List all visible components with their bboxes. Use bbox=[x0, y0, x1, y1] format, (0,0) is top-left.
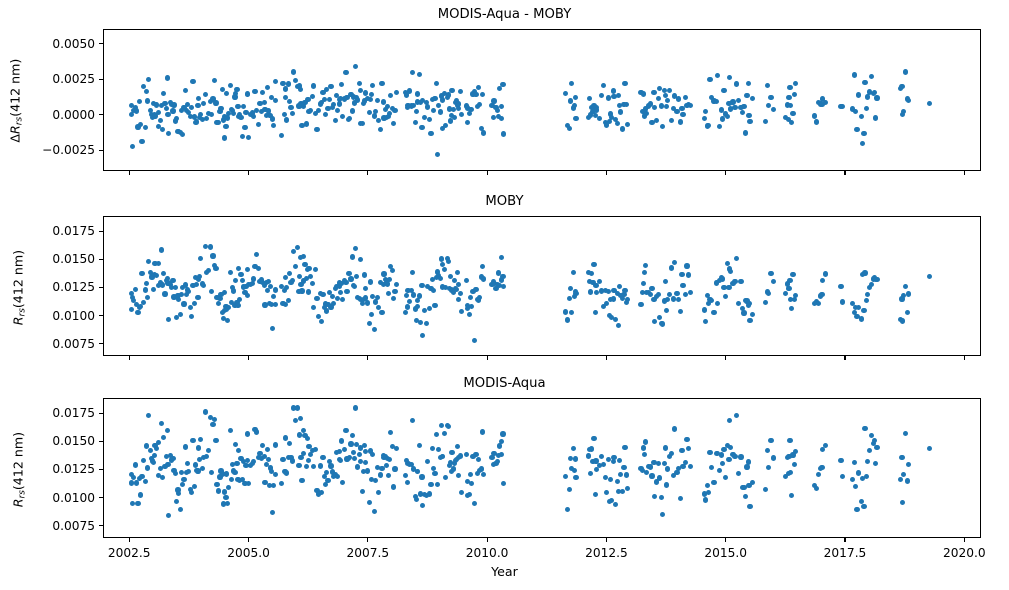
scatter-point bbox=[360, 121, 365, 126]
scatter-point bbox=[192, 301, 197, 306]
scatter-point bbox=[311, 464, 316, 469]
scatter-point bbox=[394, 446, 399, 451]
scatter-point bbox=[771, 107, 776, 112]
scatter-point bbox=[424, 321, 429, 326]
scatter-point bbox=[352, 284, 357, 289]
scatter-point bbox=[208, 244, 213, 249]
scatter-point bbox=[789, 493, 794, 498]
x-tick-label: 2017.5 bbox=[824, 546, 867, 560]
scatter-point bbox=[354, 274, 359, 279]
scatter-point bbox=[213, 438, 218, 443]
scatter-point bbox=[852, 460, 857, 465]
scatter-point bbox=[611, 455, 616, 460]
scatter-point bbox=[324, 470, 329, 475]
scatter-point bbox=[674, 291, 679, 296]
scatter-point bbox=[464, 278, 469, 283]
scatter-point bbox=[571, 446, 576, 451]
scatter-point bbox=[459, 309, 464, 314]
scatter-point bbox=[477, 295, 482, 300]
scatter-point bbox=[174, 116, 179, 121]
scatter-point bbox=[497, 443, 502, 448]
scatter-point bbox=[903, 431, 908, 436]
scatter-point bbox=[133, 462, 138, 467]
x-tick-mark bbox=[248, 171, 249, 175]
scatter-point bbox=[734, 413, 739, 418]
scatter-point bbox=[394, 282, 399, 287]
scatter-point bbox=[245, 91, 250, 96]
scatter-point bbox=[814, 486, 819, 491]
scatter-point bbox=[287, 99, 292, 104]
scatter-point bbox=[407, 299, 412, 304]
scatter-point bbox=[420, 503, 425, 508]
scatter-point bbox=[473, 92, 478, 97]
y-tick-label: 0.0150 bbox=[52, 252, 95, 266]
scatter-point bbox=[862, 426, 867, 431]
x-tick-mark bbox=[964, 171, 965, 175]
x-tick-label: 2010.0 bbox=[466, 546, 509, 560]
scatter-point bbox=[144, 281, 149, 286]
x-tick-mark bbox=[129, 538, 130, 542]
scatter-point bbox=[241, 104, 246, 109]
scatter-point bbox=[766, 465, 771, 470]
scatter-point bbox=[500, 431, 505, 436]
scatter-point bbox=[597, 116, 602, 121]
scatter-point bbox=[204, 116, 209, 121]
scatter-point bbox=[472, 501, 477, 506]
scatter-point bbox=[369, 92, 374, 97]
y-tick-mark bbox=[99, 79, 103, 80]
scatter-point bbox=[319, 490, 324, 495]
scatter-point bbox=[159, 247, 164, 252]
scatter-point bbox=[617, 458, 622, 463]
scatter-point bbox=[425, 459, 430, 464]
scatter-point bbox=[372, 509, 377, 514]
scatter-point bbox=[901, 109, 906, 114]
panel-moby: MOBY Rrs(412 nm) 0.00750.01000.01250.015… bbox=[0, 187, 1009, 367]
scatter-point bbox=[130, 501, 135, 506]
scatter-point bbox=[271, 483, 276, 488]
scatter-point bbox=[141, 458, 146, 463]
scatter-point bbox=[766, 291, 771, 296]
scatter-point bbox=[899, 84, 904, 89]
scatter-point bbox=[683, 460, 688, 465]
scatter-point bbox=[651, 90, 656, 95]
scatter-point bbox=[641, 445, 646, 450]
scatter-point bbox=[210, 253, 215, 258]
scatter-point bbox=[664, 104, 669, 109]
scatter-point bbox=[246, 135, 251, 140]
scatter-point bbox=[223, 495, 228, 500]
scatter-point bbox=[711, 480, 716, 485]
scatter-point bbox=[166, 317, 171, 322]
scatter-point bbox=[859, 114, 864, 119]
scatter-point bbox=[342, 447, 347, 452]
scatter-point bbox=[340, 480, 345, 485]
y-tick-label: −0.0025 bbox=[42, 143, 95, 157]
scatter-point bbox=[218, 106, 223, 111]
scatter-point bbox=[391, 296, 396, 301]
scatter-point bbox=[741, 310, 746, 315]
scatter-point bbox=[165, 75, 170, 80]
scatter-point bbox=[814, 119, 819, 124]
scatter-point bbox=[856, 92, 861, 97]
scatter-point bbox=[443, 123, 448, 128]
scatter-point bbox=[185, 461, 190, 466]
scatter-point bbox=[189, 490, 194, 495]
scatter-point bbox=[251, 114, 256, 119]
scatter-point bbox=[373, 109, 378, 114]
y-tick-mark bbox=[99, 497, 103, 498]
scatter-point bbox=[325, 478, 330, 483]
scatter-point bbox=[195, 295, 200, 300]
scatter-point bbox=[743, 494, 748, 499]
scatter-point bbox=[606, 95, 611, 100]
scatter-point bbox=[145, 98, 150, 103]
scatter-point bbox=[299, 288, 304, 293]
scatter-point bbox=[190, 79, 195, 84]
scatter-point bbox=[338, 458, 343, 463]
scatter-point bbox=[273, 98, 278, 103]
scatter-point bbox=[198, 437, 203, 442]
scatter-point bbox=[443, 475, 448, 480]
scatter-point bbox=[348, 441, 353, 446]
scatter-point bbox=[643, 439, 648, 444]
scatter-point bbox=[415, 298, 420, 303]
scatter-point bbox=[195, 103, 200, 108]
scatter-point bbox=[439, 256, 444, 261]
scatter-point bbox=[363, 286, 368, 291]
scatter-point bbox=[210, 422, 215, 427]
scatter-point bbox=[387, 457, 392, 462]
scatter-point bbox=[613, 502, 618, 507]
scatter-point bbox=[161, 435, 166, 440]
y-tick-mark bbox=[99, 441, 103, 442]
scatter-point bbox=[481, 276, 486, 281]
scatter-point bbox=[652, 105, 657, 110]
scatter-point bbox=[688, 103, 693, 108]
scatter-point bbox=[273, 287, 278, 292]
scatter-point bbox=[499, 116, 504, 121]
scatter-point bbox=[375, 98, 380, 103]
scatter-point bbox=[174, 499, 179, 504]
scatter-point bbox=[143, 125, 148, 130]
scatter-point bbox=[771, 455, 776, 460]
scatter-point bbox=[166, 513, 171, 518]
scatter-point bbox=[176, 491, 181, 496]
y-tick-mark bbox=[99, 231, 103, 232]
scatter-point bbox=[311, 305, 316, 310]
scatter-point bbox=[747, 318, 752, 323]
scatter-point bbox=[446, 92, 451, 97]
scatter-point bbox=[435, 152, 440, 157]
scatter-point bbox=[379, 310, 384, 315]
y-tick-mark bbox=[99, 315, 103, 316]
scatter-point bbox=[265, 447, 270, 452]
x-tick-mark bbox=[844, 538, 845, 542]
scatter-point bbox=[480, 429, 485, 434]
scatter-point bbox=[350, 433, 355, 438]
x-tick-label: 2002.5 bbox=[108, 546, 151, 560]
scatter-point bbox=[310, 281, 315, 286]
scatter-point bbox=[467, 492, 472, 497]
scatter-point bbox=[707, 450, 712, 455]
scatter-point bbox=[660, 124, 665, 129]
scatter-point bbox=[331, 301, 336, 306]
scatter-point bbox=[201, 101, 206, 106]
scatter-point bbox=[765, 448, 770, 453]
scatter-point bbox=[129, 307, 134, 312]
scatter-point bbox=[298, 416, 303, 421]
scatter-point bbox=[145, 465, 150, 470]
scatter-point bbox=[365, 468, 370, 473]
y-tick-mark bbox=[99, 259, 103, 260]
scatter-point bbox=[159, 421, 164, 426]
scatter-point bbox=[256, 266, 261, 271]
scatter-point bbox=[225, 115, 230, 120]
scatter-point bbox=[480, 264, 485, 269]
scatter-point bbox=[203, 409, 208, 414]
scatter-point bbox=[295, 245, 300, 250]
scatter-point bbox=[750, 480, 755, 485]
scatter-point bbox=[203, 92, 208, 97]
scatter-point bbox=[370, 452, 375, 457]
scatter-point bbox=[338, 290, 343, 295]
scatter-point bbox=[763, 300, 768, 305]
scatter-point bbox=[449, 88, 454, 93]
scatter-point bbox=[665, 98, 670, 103]
scatter-point bbox=[151, 287, 156, 292]
scatter-point bbox=[313, 267, 318, 272]
scatter-point bbox=[156, 440, 161, 445]
scatter-point bbox=[254, 252, 259, 257]
scatter-point bbox=[620, 126, 625, 131]
scatter-point bbox=[451, 466, 456, 471]
scatter-point bbox=[143, 287, 148, 292]
scatter-point bbox=[659, 495, 664, 500]
plot-area-moby bbox=[103, 216, 981, 356]
scatter-point bbox=[642, 270, 647, 275]
scatter-point bbox=[223, 124, 228, 129]
scatter-point bbox=[672, 260, 677, 265]
scatter-point bbox=[643, 263, 648, 268]
scatter-point bbox=[768, 95, 773, 100]
scatter-point bbox=[306, 289, 311, 294]
scatter-point bbox=[679, 272, 684, 277]
scatter-point bbox=[838, 458, 843, 463]
scatter-point bbox=[587, 96, 592, 101]
scatter-point bbox=[874, 95, 879, 100]
scatter-point bbox=[240, 134, 245, 139]
scatter-point bbox=[415, 469, 420, 474]
scatter-point bbox=[663, 445, 668, 450]
scatter-point bbox=[905, 478, 910, 483]
scatter-point bbox=[373, 478, 378, 483]
scatter-point bbox=[469, 481, 474, 486]
scatter-point bbox=[709, 465, 714, 470]
scatter-point bbox=[320, 292, 325, 297]
scatter-point bbox=[273, 302, 278, 307]
scatter-point bbox=[667, 88, 672, 93]
scatter-point bbox=[869, 74, 874, 79]
scatter-point bbox=[676, 297, 681, 302]
scatter-point bbox=[472, 338, 477, 343]
scatter-point bbox=[431, 466, 436, 471]
scatter-point bbox=[381, 271, 386, 276]
scatter-point bbox=[209, 112, 214, 117]
scatter-point bbox=[872, 90, 877, 95]
scatter-point bbox=[906, 462, 911, 467]
scatter-point bbox=[744, 464, 749, 469]
figure-canvas: MODIS-Aqua - MOBY ΔRrs(412 nm) −0.00250.… bbox=[0, 0, 1009, 590]
scatter-point bbox=[750, 96, 755, 101]
scatter-point bbox=[768, 438, 773, 443]
scatter-point bbox=[790, 272, 795, 277]
scatter-point bbox=[284, 117, 289, 122]
scatter-point bbox=[768, 271, 773, 276]
scatter-point bbox=[652, 494, 657, 499]
scatter-point bbox=[353, 246, 358, 251]
scatter-point bbox=[456, 297, 461, 302]
scatter-point bbox=[901, 472, 906, 477]
scatter-point bbox=[265, 85, 270, 90]
scatter-point bbox=[730, 99, 735, 104]
scatter-point bbox=[872, 438, 877, 443]
scatter-point bbox=[721, 88, 726, 93]
scatter-point bbox=[151, 460, 156, 465]
x-tick-mark bbox=[725, 171, 726, 175]
scatter-point bbox=[688, 464, 693, 469]
scatter-point bbox=[209, 470, 214, 475]
scatter-point bbox=[293, 264, 298, 269]
scatter-point bbox=[569, 310, 574, 315]
scatter-point bbox=[375, 295, 380, 300]
scatter-point bbox=[273, 442, 278, 447]
scatter-point bbox=[573, 456, 578, 461]
scatter-point bbox=[234, 461, 239, 466]
scatter-point bbox=[727, 75, 732, 80]
scatter-point bbox=[432, 471, 437, 476]
scatter-point bbox=[368, 279, 373, 284]
scatter-point bbox=[166, 131, 171, 136]
scatter-point bbox=[479, 466, 484, 471]
scatter-point bbox=[410, 418, 415, 423]
scatter-point bbox=[723, 294, 728, 299]
scatter-point bbox=[296, 463, 301, 468]
scatter-point bbox=[252, 89, 257, 94]
scatter-point bbox=[567, 487, 572, 492]
scatter-point bbox=[743, 130, 748, 135]
scatter-point bbox=[301, 254, 306, 259]
x-tick-mark bbox=[248, 356, 249, 360]
scatter-point bbox=[594, 107, 599, 112]
scatter-point bbox=[840, 104, 845, 109]
scatter-point bbox=[793, 293, 798, 298]
scatter-point bbox=[304, 464, 309, 469]
scatter-point bbox=[306, 458, 311, 463]
panel-delta-rrs: MODIS-Aqua - MOBY ΔRrs(412 nm) −0.00250.… bbox=[0, 0, 1009, 180]
scatter-point bbox=[501, 131, 506, 136]
scatter-point bbox=[727, 418, 732, 423]
y-tick-label: 0.0175 bbox=[52, 406, 95, 420]
scatter-point bbox=[311, 83, 316, 88]
scatter-point bbox=[293, 78, 298, 83]
scatter-point bbox=[573, 95, 578, 100]
scatter-point bbox=[620, 489, 625, 494]
scatter-point bbox=[226, 305, 231, 310]
scatter-point bbox=[840, 299, 845, 304]
y-tick-label: 0.0000 bbox=[52, 108, 95, 122]
scatter-point bbox=[403, 310, 408, 315]
scatter-point bbox=[449, 450, 454, 455]
scatter-point bbox=[788, 103, 793, 108]
scatter-point bbox=[787, 85, 792, 90]
plot-area-modis bbox=[103, 398, 981, 538]
scatter-point bbox=[819, 465, 824, 470]
scatter-point bbox=[418, 320, 423, 325]
scatter-point bbox=[714, 99, 719, 104]
scatter-point bbox=[588, 289, 593, 294]
x-tick-label: 2005.0 bbox=[227, 546, 270, 560]
scatter-point bbox=[405, 304, 410, 309]
scatter-point bbox=[432, 303, 437, 308]
scatter-point bbox=[427, 117, 432, 122]
scatter-point bbox=[656, 96, 661, 101]
scatter-point bbox=[732, 105, 737, 110]
scatter-point bbox=[740, 110, 745, 115]
scatter-point bbox=[280, 81, 285, 86]
scatter-point bbox=[499, 439, 504, 444]
scatter-point bbox=[216, 488, 221, 493]
scatter-point bbox=[180, 482, 185, 487]
scatter-point bbox=[683, 95, 688, 100]
scatter-point bbox=[747, 504, 752, 509]
scatter-point bbox=[649, 473, 654, 478]
scatter-point bbox=[339, 82, 344, 87]
scatter-point bbox=[376, 490, 381, 495]
scatter-point bbox=[304, 121, 309, 126]
scatter-point bbox=[702, 116, 707, 121]
scatter-point bbox=[864, 106, 869, 111]
scatter-point bbox=[819, 292, 824, 297]
x-tick-mark bbox=[725, 538, 726, 542]
scatter-point bbox=[720, 116, 725, 121]
scatter-point bbox=[152, 453, 157, 458]
scatter-point bbox=[467, 312, 472, 317]
scatter-point bbox=[679, 448, 684, 453]
scatter-point bbox=[391, 484, 396, 489]
scatter-point bbox=[862, 270, 867, 275]
scatter-point bbox=[337, 101, 342, 106]
scatter-point bbox=[854, 507, 859, 512]
scatter-point bbox=[734, 81, 739, 86]
scatter-point bbox=[669, 118, 674, 123]
scatter-point bbox=[130, 144, 135, 149]
scatter-point bbox=[214, 482, 219, 487]
y-axis-label-delta: ΔRrs(412 nm) bbox=[7, 33, 24, 169]
scatter-point bbox=[237, 297, 242, 302]
scatter-point bbox=[900, 500, 905, 505]
scatter-point bbox=[865, 94, 870, 99]
scatter-point bbox=[355, 97, 360, 102]
scatter-point bbox=[597, 279, 602, 284]
scatter-point bbox=[427, 491, 432, 496]
scatter-point bbox=[283, 86, 288, 91]
scatter-point bbox=[688, 290, 693, 295]
scatter-point bbox=[407, 88, 412, 93]
scatter-point bbox=[435, 482, 440, 487]
scatter-point bbox=[489, 455, 494, 460]
scatter-point bbox=[363, 90, 368, 95]
